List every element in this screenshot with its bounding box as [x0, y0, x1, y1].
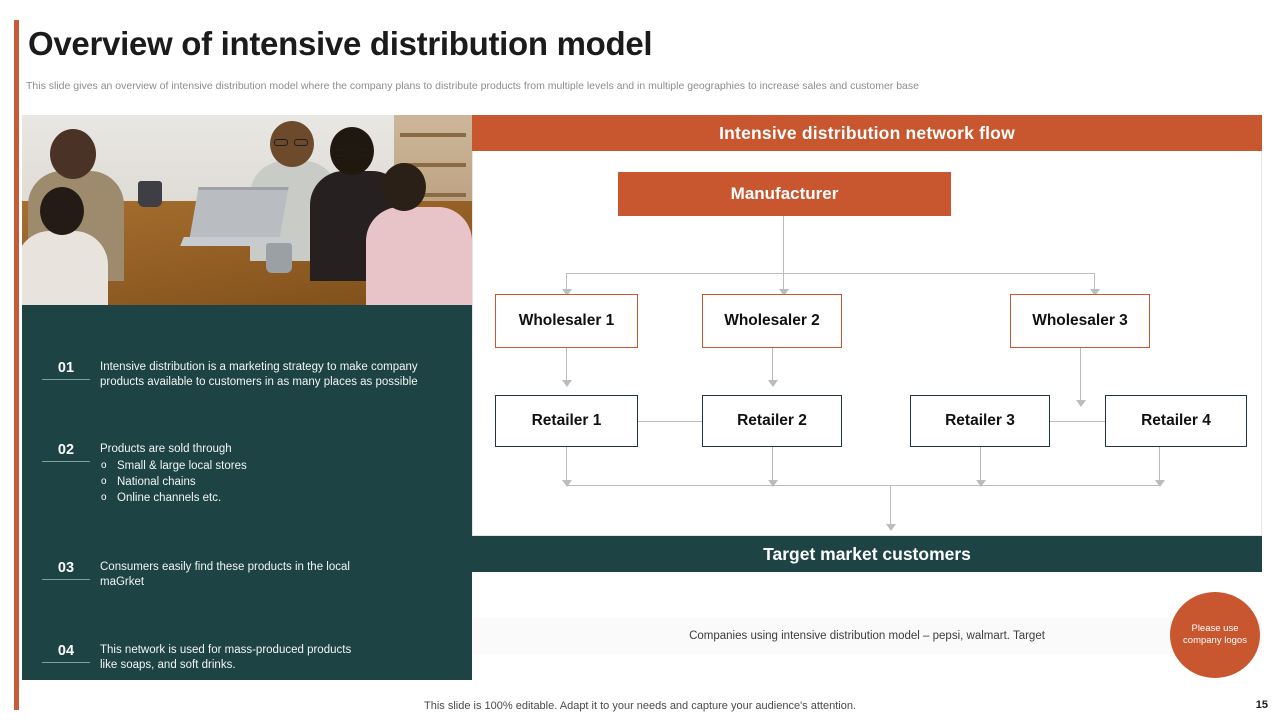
connector-line [772, 348, 773, 383]
photo-person-body [22, 231, 108, 305]
node-wholesaler-3[interactable]: Wholesaler 3 [1010, 294, 1150, 348]
key-points-panel: 01 Intensive distribution is a marketing… [22, 305, 472, 680]
photo-person-head [330, 127, 374, 175]
node-retailer-1[interactable]: Retailer 1 [495, 395, 638, 447]
arrow-head [562, 380, 572, 387]
flow-diagram-canvas: Manufacturer Wholesaler 1 Wholesaler 2 W… [472, 151, 1262, 536]
point-number: 02 [42, 442, 90, 462]
connector-line [638, 421, 702, 422]
photo-person-body [366, 207, 472, 305]
connector-line [566, 485, 1159, 486]
photo-person-head [270, 121, 314, 167]
target-market-bar: Target market customers [472, 536, 1262, 572]
node-manufacturer[interactable]: Manufacturer [618, 172, 951, 216]
point-text: Products are sold through Small & large … [100, 442, 460, 506]
arrow-head [768, 380, 778, 387]
point-sub-item: Online channels etc. [117, 490, 460, 506]
point-number: 01 [42, 360, 90, 380]
point-text: Consumers easily find these products in … [100, 560, 380, 590]
connector-line [772, 447, 773, 483]
flow-header-bar: Intensive distribution network flow [472, 115, 1262, 151]
photo-mug [138, 181, 162, 207]
node-retailer-4[interactable]: Retailer 4 [1105, 395, 1247, 447]
photo-person-head [50, 129, 96, 179]
connector-line [890, 485, 891, 527]
connector-line [1080, 348, 1081, 403]
company-logos-badge: Please use company logos [1170, 592, 1260, 678]
photo-person-head [382, 163, 426, 211]
point-sub-item: National chains [117, 474, 460, 490]
node-wholesaler-2[interactable]: Wholesaler 2 [702, 294, 842, 348]
node-retailer-2[interactable]: Retailer 2 [702, 395, 842, 447]
point-sub-item: Small & large local stores [117, 458, 460, 474]
connector-line [566, 273, 1094, 274]
page-title: Overview of intensive distribution model [28, 22, 1028, 66]
badge-line-1: Please use [1191, 623, 1238, 635]
arrow-head [1076, 400, 1086, 407]
companies-note: Companies using intensive distribution m… [472, 618, 1262, 654]
left-accent-bar [14, 20, 19, 710]
connector-line [980, 447, 981, 483]
connector-line [566, 348, 567, 383]
photo-laptop [189, 187, 288, 239]
arrow-head [886, 524, 896, 531]
page-subtitle: This slide gives an overview of intensiv… [26, 79, 1126, 93]
connector-line [783, 216, 784, 274]
photo-person-head [40, 187, 84, 235]
connector-line [1159, 447, 1160, 483]
connector-line [1050, 421, 1105, 422]
slide-root: Overview of intensive distribution model… [0, 0, 1280, 720]
node-retailer-3[interactable]: Retailer 3 [910, 395, 1050, 447]
point-text-lead: Products are sold through [100, 443, 232, 455]
point-number: 03 [42, 560, 90, 580]
connector-line [566, 447, 567, 483]
badge-line-2: company logos [1183, 635, 1247, 647]
page-number: 15 [1256, 699, 1268, 711]
point-sub-list: Small & large local stores National chai… [100, 458, 460, 506]
photo-mug [266, 243, 292, 273]
point-text: This network is used for mass-produced p… [100, 643, 360, 673]
point-number: 04 [42, 643, 90, 663]
footer-note: This slide is 100% editable. Adapt it to… [0, 700, 1280, 712]
point-text: Intensive distribution is a marketing st… [100, 360, 460, 390]
node-wholesaler-1[interactable]: Wholesaler 1 [495, 294, 638, 348]
team-meeting-photo [22, 115, 472, 305]
